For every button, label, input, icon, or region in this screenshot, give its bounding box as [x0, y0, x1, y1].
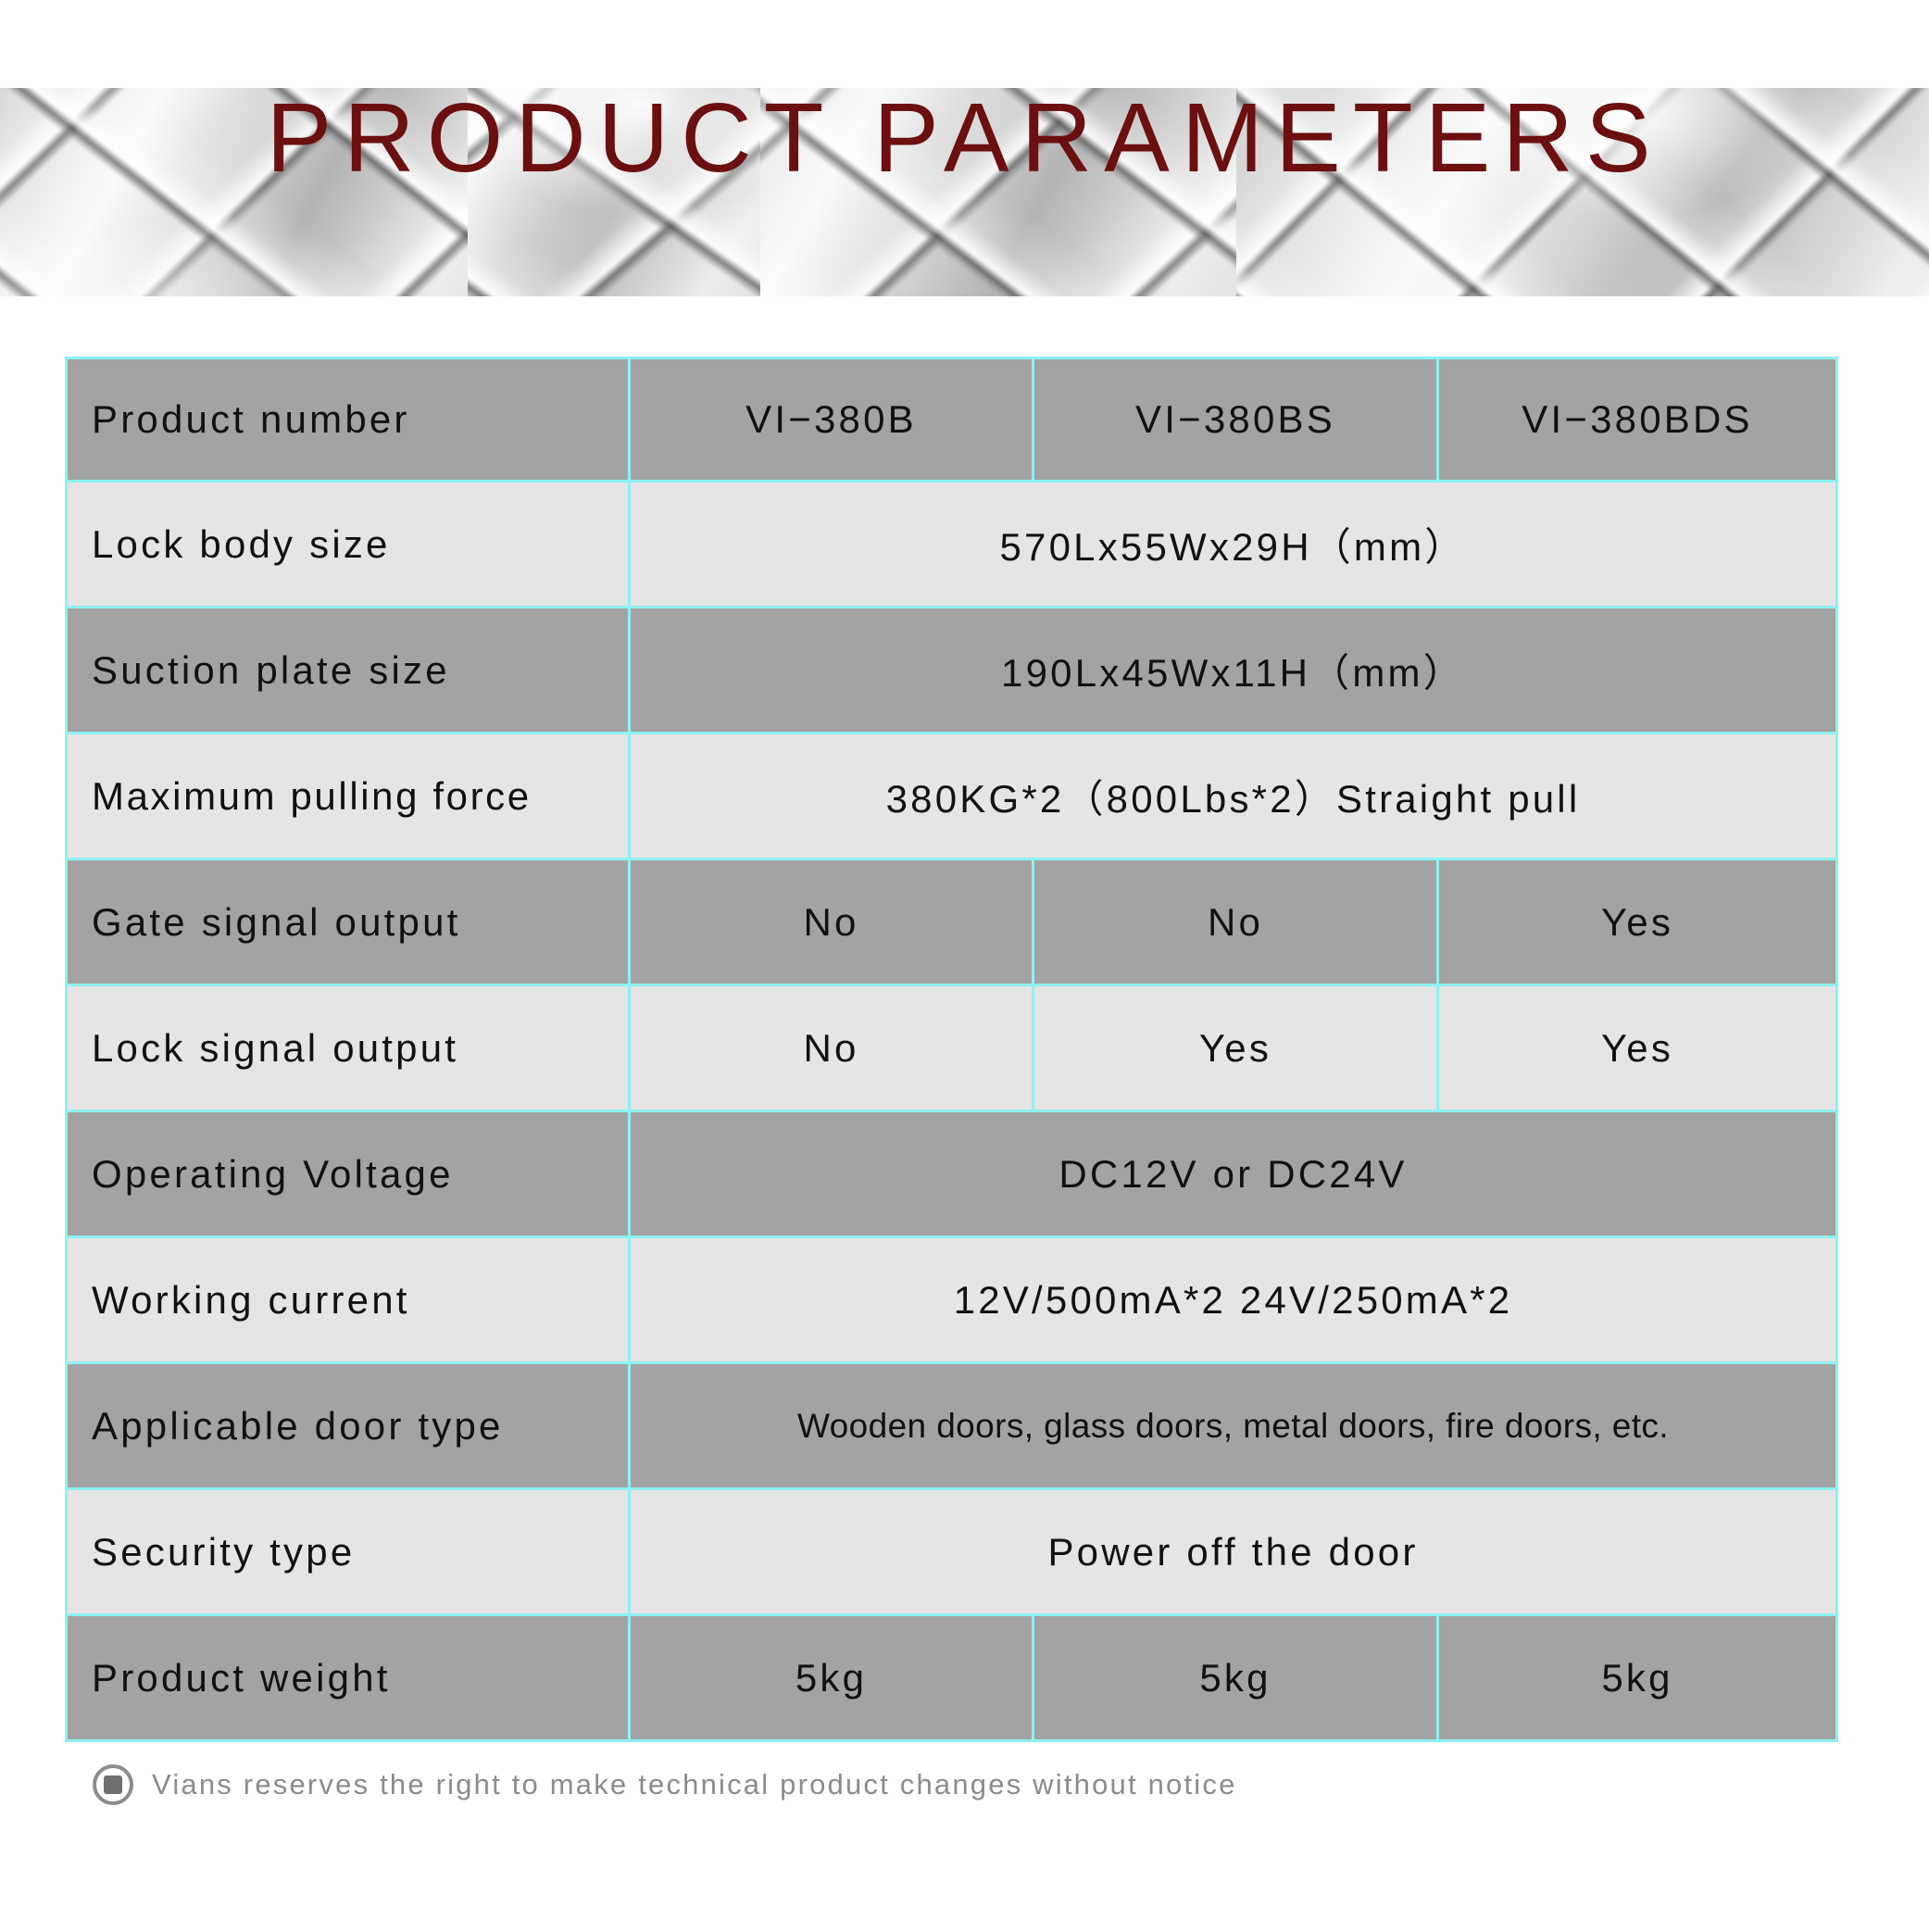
- table-row-product-weight: Product weight 5kg 5kg 5kg: [65, 1616, 1838, 1742]
- table-row-gate-signal-output: Gate signal output No No Yes: [65, 860, 1838, 986]
- table-row-product-number: Product number VI−380B VI−380BS VI−380BD…: [65, 357, 1838, 483]
- row-label-working-current: Working current: [65, 1238, 631, 1364]
- cell-maximum-pulling-force: 380KG*2（800Lbs*2）Straight pull: [631, 734, 1838, 860]
- page-title: PRODUCT PARAMETERS: [0, 89, 1929, 187]
- row-label-product-number: Product number: [65, 357, 631, 483]
- row-label-applicable-door-type: Applicable door type: [65, 1364, 631, 1490]
- cell-product-weight-col2: 5kg: [1034, 1616, 1439, 1742]
- row-label-operating-voltage: Operating Voltage: [65, 1112, 631, 1238]
- table-row-lock-signal-output: Lock signal output No Yes Yes: [65, 986, 1838, 1112]
- cell-gate-signal-col3: Yes: [1439, 860, 1838, 986]
- row-label-security-type: Security type: [65, 1490, 631, 1616]
- cell-lock-body-size: 570Lx55Wx29H（mm）: [631, 483, 1838, 608]
- table-row-lock-body-size: Lock body size 570Lx55Wx29H（mm）: [65, 483, 1838, 608]
- cell-security-type: Power off the door: [631, 1490, 1838, 1616]
- cell-product-weight-col1: 5kg: [631, 1616, 1034, 1742]
- table-row-working-current: Working current 12V/500mA*2 24V/250mA*2: [65, 1238, 1838, 1364]
- cell-product-number-col2: VI−380BS: [1034, 357, 1439, 483]
- cell-working-current: 12V/500mA*2 24V/250mA*2: [631, 1238, 1838, 1364]
- table-row-applicable-door-type: Applicable door type Wooden doors, glass…: [65, 1364, 1838, 1490]
- disclaimer-note: Vians reserves the right to make technic…: [93, 1764, 1237, 1805]
- table-body: Product number VI−380B VI−380BS VI−380BD…: [65, 357, 1838, 1742]
- row-label-gate-signal-output: Gate signal output: [65, 860, 631, 986]
- table-row-operating-voltage: Operating Voltage DC12V or DC24V: [65, 1112, 1838, 1238]
- cell-product-weight-col3: 5kg: [1439, 1616, 1838, 1742]
- table-row-suction-plate-size: Suction plate size 190Lx45Wx11H（mm）: [65, 608, 1838, 734]
- row-label-product-weight: Product weight: [65, 1616, 631, 1742]
- product-parameters-table: Product number VI−380B VI−380BS VI−380BD…: [65, 357, 1838, 1742]
- table-row-security-type: Security type Power off the door: [65, 1490, 1838, 1616]
- circle-square-icon: [93, 1764, 133, 1805]
- row-label-suction-plate-size: Suction plate size: [65, 608, 631, 734]
- row-label-lock-signal-output: Lock signal output: [65, 986, 631, 1112]
- table-row-maximum-pulling-force: Maximum pulling force 380KG*2（800Lbs*2）S…: [65, 734, 1838, 860]
- cell-gate-signal-col2: No: [1034, 860, 1439, 986]
- row-label-lock-body-size: Lock body size: [65, 483, 631, 608]
- cell-gate-signal-col1: No: [631, 860, 1034, 986]
- cell-suction-plate-size: 190Lx45Wx11H（mm）: [631, 608, 1838, 734]
- cell-lock-signal-col1: No: [631, 986, 1034, 1112]
- cell-lock-signal-col2: Yes: [1034, 986, 1439, 1112]
- row-label-maximum-pulling-force: Maximum pulling force: [65, 734, 631, 860]
- disclaimer-text: Vians reserves the right to make technic…: [152, 1768, 1237, 1801]
- cell-lock-signal-col3: Yes: [1439, 986, 1838, 1112]
- cell-product-number-col3: VI−380BDS: [1439, 357, 1838, 483]
- cell-applicable-door-type: Wooden doors, glass doors, metal doors, …: [631, 1364, 1838, 1490]
- cell-product-number-col1: VI−380B: [631, 357, 1034, 483]
- cell-operating-voltage: DC12V or DC24V: [631, 1112, 1838, 1238]
